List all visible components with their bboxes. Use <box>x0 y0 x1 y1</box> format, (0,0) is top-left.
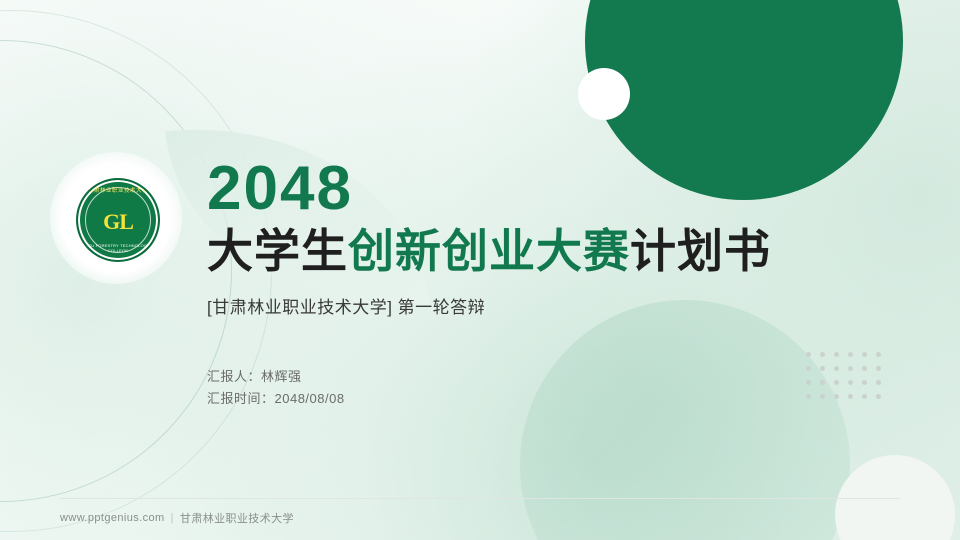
title-content-block: 2048 大学生创新创业大赛计划书 [甘肃林业职业技术大学] 第一轮答辩 汇报人… <box>207 158 847 411</box>
title-part-3: 计划书 <box>630 225 771 277</box>
subtitle: [甘肃林业职业技术大学] 第一轮答辩 <box>207 293 847 318</box>
logo-center-glyph: GL <box>99 207 137 237</box>
page-title: 大学生创新创业大赛计划书 <box>207 226 847 277</box>
footer: www.pptgenius.com | 甘肃林业职业技术大学 <box>60 510 294 526</box>
footer-divider <box>60 498 900 499</box>
title-part-1: 大学生 <box>207 225 348 277</box>
logo-bottom-text: GANSU FORESTRY TECHNOLOGICAL COLLEGE <box>78 243 158 253</box>
title-part-2-highlight: 创新创业大赛 <box>348 225 630 277</box>
footer-separator: | <box>171 512 174 524</box>
year-number: 2048 <box>207 158 847 220</box>
decorative-circle-white-small <box>578 68 630 120</box>
logo-top-text: 甘肃林业职业技术大学 <box>78 186 158 194</box>
footer-organization: 甘肃林业职业技术大学 <box>180 510 294 526</box>
date-line: 汇报时间：2048/08/08 <box>207 388 847 411</box>
footer-website[interactable]: www.pptgenius.com <box>60 512 165 524</box>
presentation-title-slide: 甘肃林业职业技术大学 GL GANSU FORESTRY TECHNOLOGIC… <box>0 0 960 540</box>
university-seal-logo: 甘肃林业职业技术大学 GL GANSU FORESTRY TECHNOLOGIC… <box>76 178 160 262</box>
presenter-line: 汇报人：林辉强 <box>207 366 847 389</box>
